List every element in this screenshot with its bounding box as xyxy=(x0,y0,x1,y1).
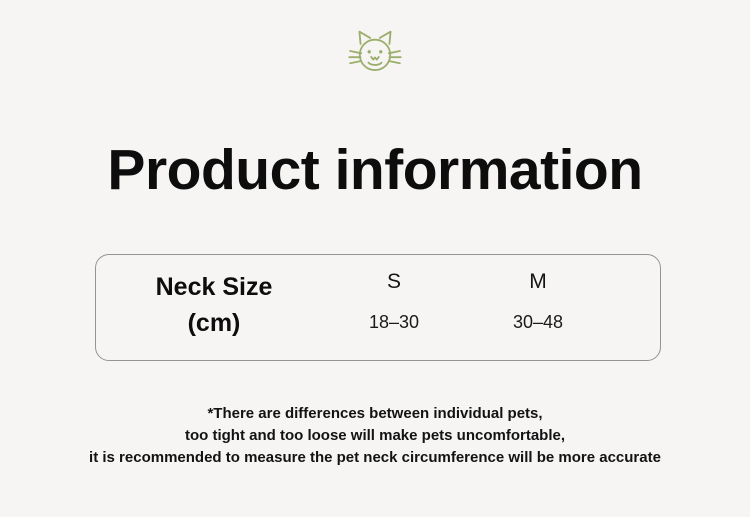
size-column-s: S 18–30 xyxy=(329,271,459,333)
size-column-m-value: 30–48 xyxy=(473,312,603,333)
size-chart-grid: Neck Size (cm) S 18–30 M 30–48 xyxy=(96,255,660,360)
product-information-page: Product information Neck Size (cm) S 18–… xyxy=(0,0,750,517)
neck-size-label: Neck Size xyxy=(156,273,273,301)
size-chart-row-label: Neck Size (cm) xyxy=(114,269,314,342)
cat-face-icon xyxy=(347,26,403,82)
brand-icon-container xyxy=(0,26,750,82)
sizing-footnote-line-3: it is recommended to measure the pet nec… xyxy=(0,447,750,469)
sizing-footnote-line-2: too tight and too loose will make pets u… xyxy=(0,425,750,447)
size-column-m-label: M xyxy=(473,271,603,292)
size-column-m: M 30–48 xyxy=(473,271,603,333)
sizing-footnote: *There are differences between individua… xyxy=(0,403,750,469)
size-chart-table: Neck Size (cm) S 18–30 M 30–48 xyxy=(95,254,661,361)
size-column-s-label: S xyxy=(329,271,459,292)
neck-size-unit: (cm) xyxy=(114,305,314,341)
size-column-s-value: 18–30 xyxy=(329,312,459,333)
page-title: Product information xyxy=(0,141,750,201)
sizing-footnote-line-1: *There are differences between individua… xyxy=(0,403,750,425)
